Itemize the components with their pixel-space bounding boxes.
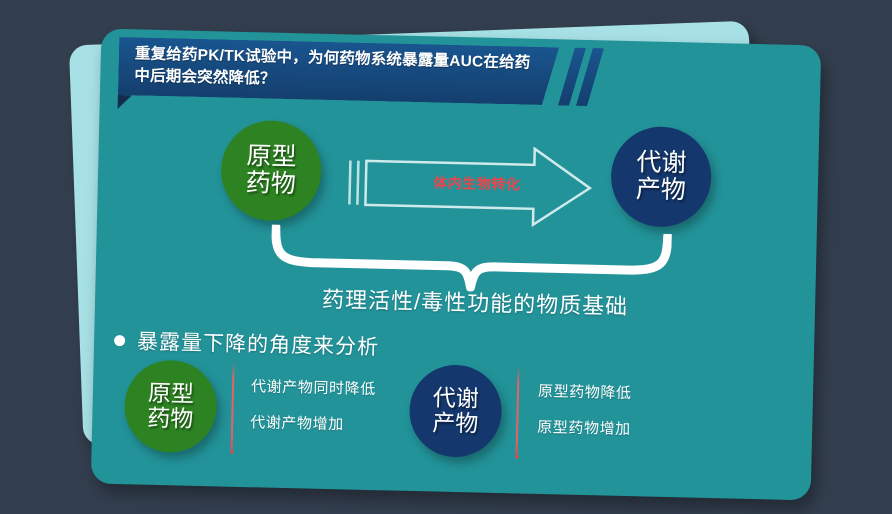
analysis-heading-text: 暴露量下降的角度来分析	[137, 326, 380, 362]
list-item: 原型药物增加	[537, 410, 631, 448]
title-banner: 重复给药PK/TK试验中，为何药物系统暴露量AUC在给药 中后期会突然降低？	[118, 37, 619, 107]
analysis-group-1-circle: 原型 药物	[124, 359, 218, 453]
flow-target-line1: 代谢	[636, 149, 687, 178]
analysis-group-2-line1: 代谢	[433, 385, 480, 411]
analysis-group-2-items: 原型药物降低 原型药物增加	[537, 374, 632, 448]
list-item: 代谢产物同时降低	[251, 369, 377, 408]
analysis-heading: 暴露量下降的角度来分析	[114, 325, 380, 361]
analysis-group-1-line2: 药物	[147, 406, 194, 432]
main-card: 重复给药PK/TK试验中，为何药物系统暴露量AUC在给药 中后期会突然降低？ 原…	[91, 29, 822, 501]
bullet-dot-icon	[114, 334, 125, 345]
banner-fold-corner-icon	[118, 95, 132, 109]
list-item: 原型药物降低	[538, 374, 632, 412]
slide-canvas: 重复给药PK/TK试验中，为何药物系统暴露量AUC在给药 中后期会突然降低？ 原…	[0, 0, 892, 514]
list-item: 代谢产物增加	[250, 405, 376, 444]
flow-target-line2: 产物	[635, 176, 686, 205]
analysis-group-1-divider	[231, 362, 235, 452]
flow-source-circle: 原型 药物	[220, 119, 322, 221]
flow-source-line1: 原型	[246, 143, 297, 172]
card-content: 重复给药PK/TK试验中，为何药物系统暴露量AUC在给药 中后期会突然降低？ 原…	[91, 29, 822, 501]
flow-source-line2: 药物	[246, 170, 297, 199]
biotransformation-arrow: 体内生物转化	[343, 142, 615, 228]
analysis-group-2-divider	[515, 366, 519, 456]
analysis-group-2-line2: 产物	[432, 410, 479, 436]
analysis-group-2-divider-dot-icon	[515, 455, 518, 458]
analysis-group-1-divider-dot-icon	[230, 451, 233, 454]
analysis-group-2-circle: 代谢 产物	[408, 364, 502, 458]
analysis-group-1-line1: 原型	[148, 380, 195, 406]
analysis-group-1-items: 代谢产物同时降低 代谢产物增加	[250, 369, 376, 444]
arrow-label-text: 体内生物转化	[402, 172, 552, 196]
flow-target-circle: 代谢 产物	[610, 126, 712, 228]
